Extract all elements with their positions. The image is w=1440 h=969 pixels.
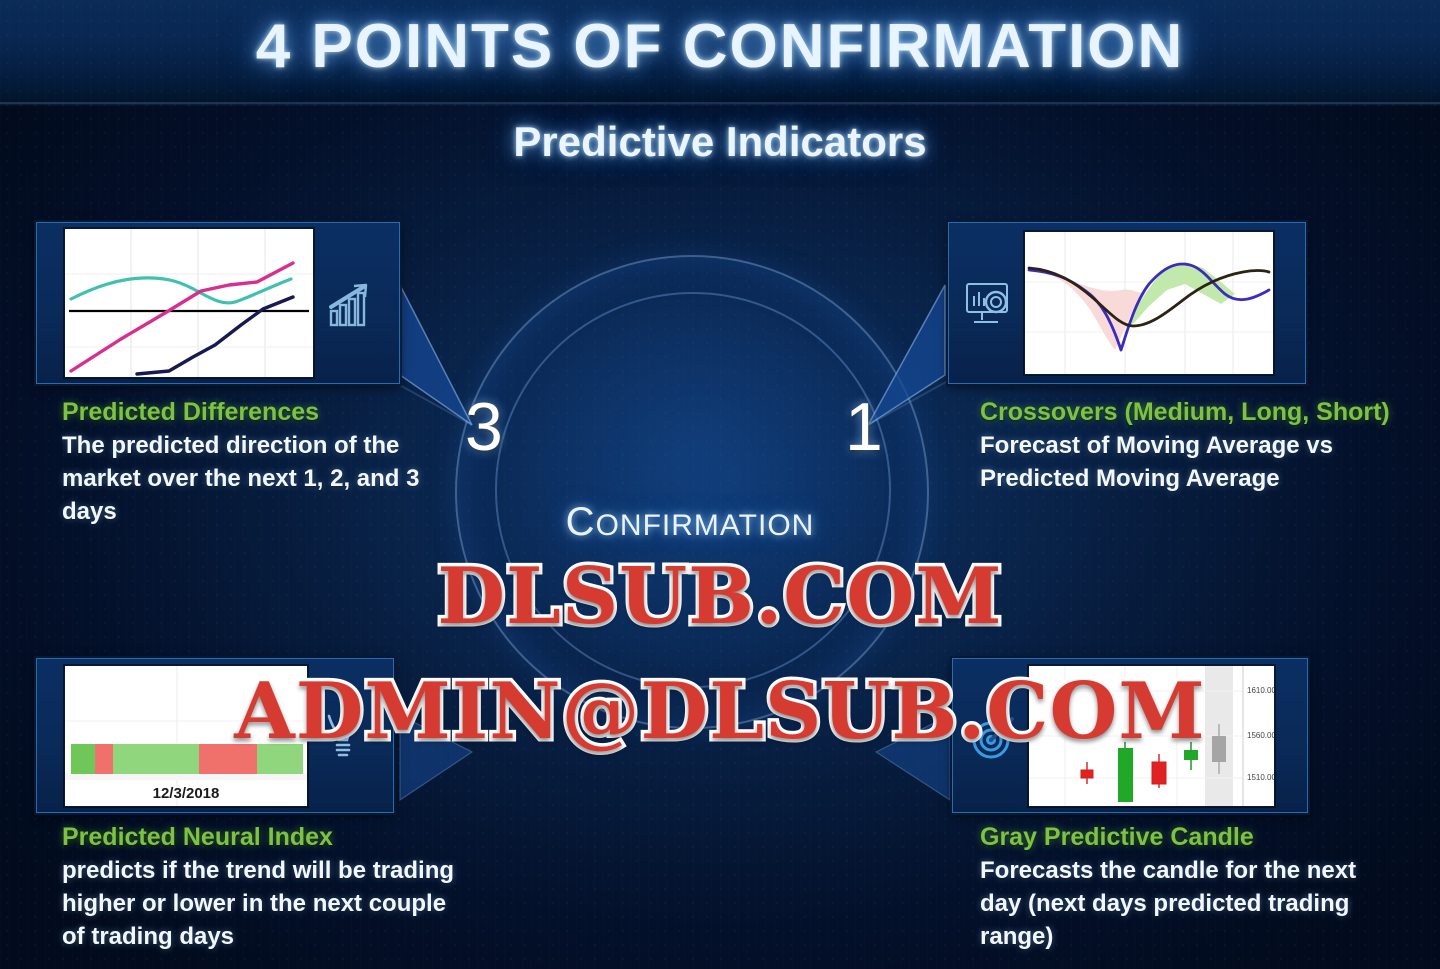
quadrant-body-predicted-neural-index: predicts if the trend will be trading hi… (62, 854, 462, 953)
watermark-email: ADMIN@DLSUB.COM (0, 666, 1440, 757)
confirmation-label-cap: C (566, 500, 596, 544)
quadrant-body-crossovers: Forecast of Moving Average vs Predicted … (980, 429, 1430, 495)
confirmation-label-rest: ONFIRMATION (596, 509, 815, 542)
watermark-site-text: DLSUB.COM (437, 551, 1002, 642)
line-chart-graphic (65, 229, 313, 377)
card-crossovers[interactable] (948, 222, 1306, 384)
quadrant-body-predicted-differences: The predicted direction of the market ov… (62, 429, 422, 528)
confirmation-label: CONFIRMATION (455, 500, 925, 545)
confirmation-ring-outer (455, 255, 929, 729)
quadrant-title-crossovers: Crossovers (Medium, Long, Short) (980, 398, 1430, 427)
text-block-predicted-differences: Predicted Differences The predicted dire… (62, 398, 422, 528)
text-block-predicted-neural-index: Predicted Neural Index predicts if the t… (62, 823, 462, 953)
quadrant-number-3: 3 (465, 388, 503, 466)
watermark-site: DLSUB.COM (0, 551, 1440, 642)
quadrant-title-predicted-neural-index: Predicted Neural Index (62, 823, 462, 852)
quadrant-title-predicted-differences: Predicted Differences (62, 398, 422, 427)
card-predicted-differences[interactable] (36, 222, 400, 384)
quadrant-body-gray-predictive-candle: Forecasts the candle for the next day (n… (980, 854, 1380, 953)
thumbnail-crossovers-chart (1024, 231, 1274, 375)
monitor-analytics-icon (954, 276, 1024, 330)
crossover-chart-graphic (1025, 232, 1273, 374)
watermark-email-text: ADMIN@DLSUB.COM (234, 666, 1206, 757)
thumbnail-predicted-differences-chart (64, 228, 314, 378)
text-block-crossovers: Crossovers (Medium, Long, Short) Forecas… (980, 398, 1430, 495)
price-label-bottom: 1510.00 (1247, 773, 1274, 782)
bar-chart-growth-icon (314, 277, 384, 329)
text-block-gray-predictive-candle: Gray Predictive Candle Forecasts the can… (980, 823, 1380, 953)
thumbnail-date-label: 12/3/2018 (65, 785, 307, 802)
quadrant-title-gray-predictive-candle: Gray Predictive Candle (980, 823, 1380, 852)
page-subtitle: Predictive Indicators (0, 118, 1440, 166)
slide-canvas: 4 POINTS OF CONFIRMATION Predictive Indi… (0, 0, 1440, 969)
quadrant-number-1: 1 (845, 388, 883, 466)
page-title: 4 POINTS OF CONFIRMATION (0, 11, 1440, 82)
